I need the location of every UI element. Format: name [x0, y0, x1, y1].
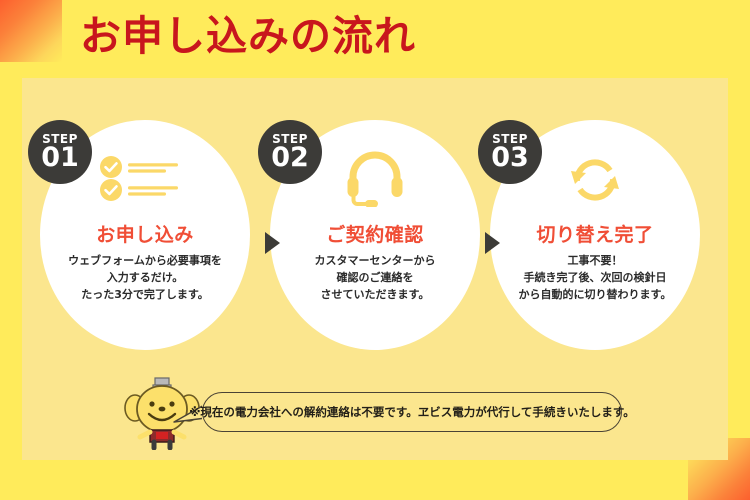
step-title-01: お申し込み: [40, 220, 250, 247]
corner-gradient-top-left: [0, 0, 62, 62]
step-card-01: STEP 01 お申し込み ウェブフォームから必要事項を 入力するだけ。: [40, 120, 250, 350]
step-body-line: 手続き完了後、次回の検針日: [490, 269, 700, 286]
step-body-01: ウェブフォームから必要事項を 入力するだけ。 たった3分で完了します。: [40, 252, 250, 303]
step-arrow-right-icon: [485, 232, 500, 254]
step-badge-03: STEP 03: [478, 120, 542, 184]
step-card-02: STEP 02 ご契約確認 カスタマーセンターから 確認のご連絡を させていただ…: [270, 120, 480, 350]
infographic-stage: お申し込みの流れ STEP 01 お: [0, 0, 750, 500]
page-title: お申し込みの流れ: [80, 8, 416, 64]
step-body-line: させていただきます。: [270, 286, 480, 303]
step-body-line: 確認のご連絡を: [270, 269, 480, 286]
step-title-03: 切り替え完了: [490, 220, 700, 247]
step-badge-number: 02: [271, 144, 309, 171]
step-body-line: から自動的に切り替わります。: [490, 286, 700, 303]
step-body-line: ウェブフォームから必要事項を: [40, 252, 250, 269]
footer-note-bubble: ※現在の電力会社への解約連絡は不要です。ヱビス電力が代行して手続きいたします。: [202, 392, 622, 432]
step-arrow-right-icon: [265, 232, 280, 254]
step-body-03: 工事不要！ 手続き完了後、次回の検針日 から自動的に切り替わります。: [490, 252, 700, 303]
step-body-line: たった3分で完了します。: [40, 286, 250, 303]
steps-row: STEP 01 お申し込み ウェブフォームから必要事項を 入力するだけ。: [22, 120, 728, 360]
step-badge-number: 01: [41, 144, 79, 171]
step-title-02: ご契約確認: [270, 220, 480, 247]
footer-note-area: ※現在の電力会社への解約連絡は不要です。ヱビス電力が代行して手続きいたします。: [120, 370, 640, 450]
step-badge-02: STEP 02: [258, 120, 322, 184]
step-body-02: カスタマーセンターから 確認のご連絡を させていただきます。: [270, 252, 480, 303]
footer-note-text: ※現在の電力会社への解約連絡は不要です。ヱビス電力が代行して手続きいたします。: [189, 404, 635, 420]
step-badge-number: 03: [491, 144, 529, 171]
step-body-line: 工事不要！: [490, 252, 700, 269]
step-badge-01: STEP 01: [28, 120, 92, 184]
step-card-03: STEP 03 切り替え完了 工事不要！ 手続き完了後、次回の検針日 から自動的…: [490, 120, 700, 350]
step-body-line: 入力するだけ。: [40, 269, 250, 286]
step-body-line: カスタマーセンターから: [270, 252, 480, 269]
